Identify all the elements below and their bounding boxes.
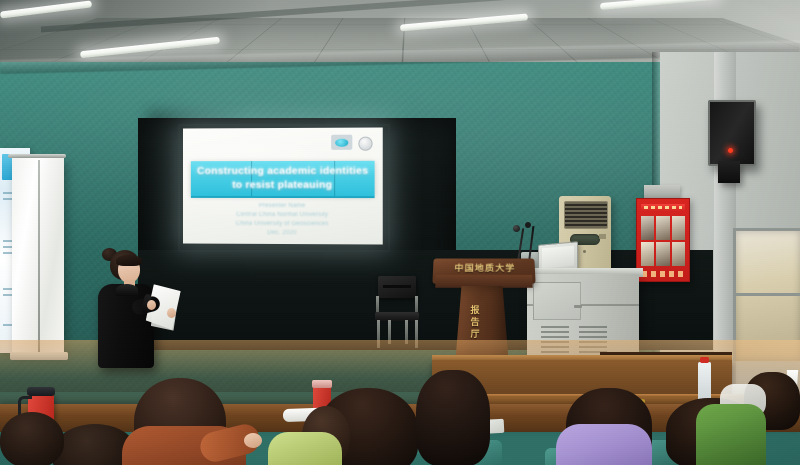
slide-subtitle-line2: Central China Normal University <box>183 212 383 219</box>
audience-purple-top <box>556 424 652 465</box>
speaker-mount-bracket <box>718 161 740 183</box>
audience-head <box>416 370 490 465</box>
slide-subtitle-line4: Dec. 2020 <box>183 230 383 237</box>
slide-title-band: Constructing academic identities to resi… <box>191 161 375 196</box>
board-footer-text <box>642 271 684 277</box>
chair-backrest <box>378 276 416 298</box>
podium-top: 中国地质大学 <box>432 259 535 284</box>
board-header-banner <box>641 204 685 212</box>
slide-subtitle-line3: China University of Geosciences <box>183 221 383 228</box>
board-photo <box>672 242 685 266</box>
board-photo <box>656 216 669 240</box>
cabinet-door <box>533 282 581 320</box>
presenter-collar <box>116 284 138 296</box>
presenter-speaking <box>96 246 192 368</box>
bottle-cap-icon <box>700 357 709 363</box>
lecture-hall-photo: Constructing academic identities to resi… <box>0 0 800 465</box>
slide-subtitle-line1: Presenter Name <box>183 203 383 209</box>
ac-indicator-icon <box>583 250 586 253</box>
board-photo <box>641 216 654 240</box>
projection-screen: Constructing academic identities to resi… <box>183 127 383 244</box>
audience-top-green <box>268 432 342 465</box>
university-seal-icon <box>358 137 372 151</box>
ac-vent-grille-icon <box>564 201 608 229</box>
banner-pole <box>38 160 40 352</box>
power-led-icon <box>728 148 733 153</box>
thermos-lid <box>27 387 55 396</box>
board-photo <box>656 242 669 266</box>
slide-title-line1: Constructing academic identities <box>191 165 375 177</box>
audience-green-coat <box>696 404 766 465</box>
thermos-cap <box>312 380 332 388</box>
podium-microphone-head-icon <box>525 222 531 228</box>
board-photo <box>672 216 685 240</box>
conference-logo-icon <box>331 135 352 150</box>
presenter-hand-holding-mic <box>147 300 156 310</box>
presenter-hand-holding-paper <box>167 308 176 318</box>
red-photo-display-board <box>636 198 690 282</box>
board-photo-grid <box>641 216 685 266</box>
presenter-fringe <box>116 255 142 266</box>
water-bottle <box>698 362 711 400</box>
podium-university-name: 中国地质大学 <box>439 262 532 274</box>
cabinet-handle-icon <box>574 305 582 308</box>
slide-title-line2: to resist plateauing <box>191 179 375 191</box>
wall-mounted-loudspeaker <box>708 100 756 166</box>
microphone-capsule-icon <box>513 225 520 232</box>
chair-seat <box>375 312 419 321</box>
podium-hall-name: 报告厅 <box>467 304 483 340</box>
board-photo <box>641 242 654 266</box>
audience-head <box>0 412 64 465</box>
wall-sign-plate <box>644 185 680 199</box>
audience-hand <box>244 433 262 448</box>
ac-brand-logo <box>599 234 606 239</box>
stage-chair <box>374 276 420 348</box>
